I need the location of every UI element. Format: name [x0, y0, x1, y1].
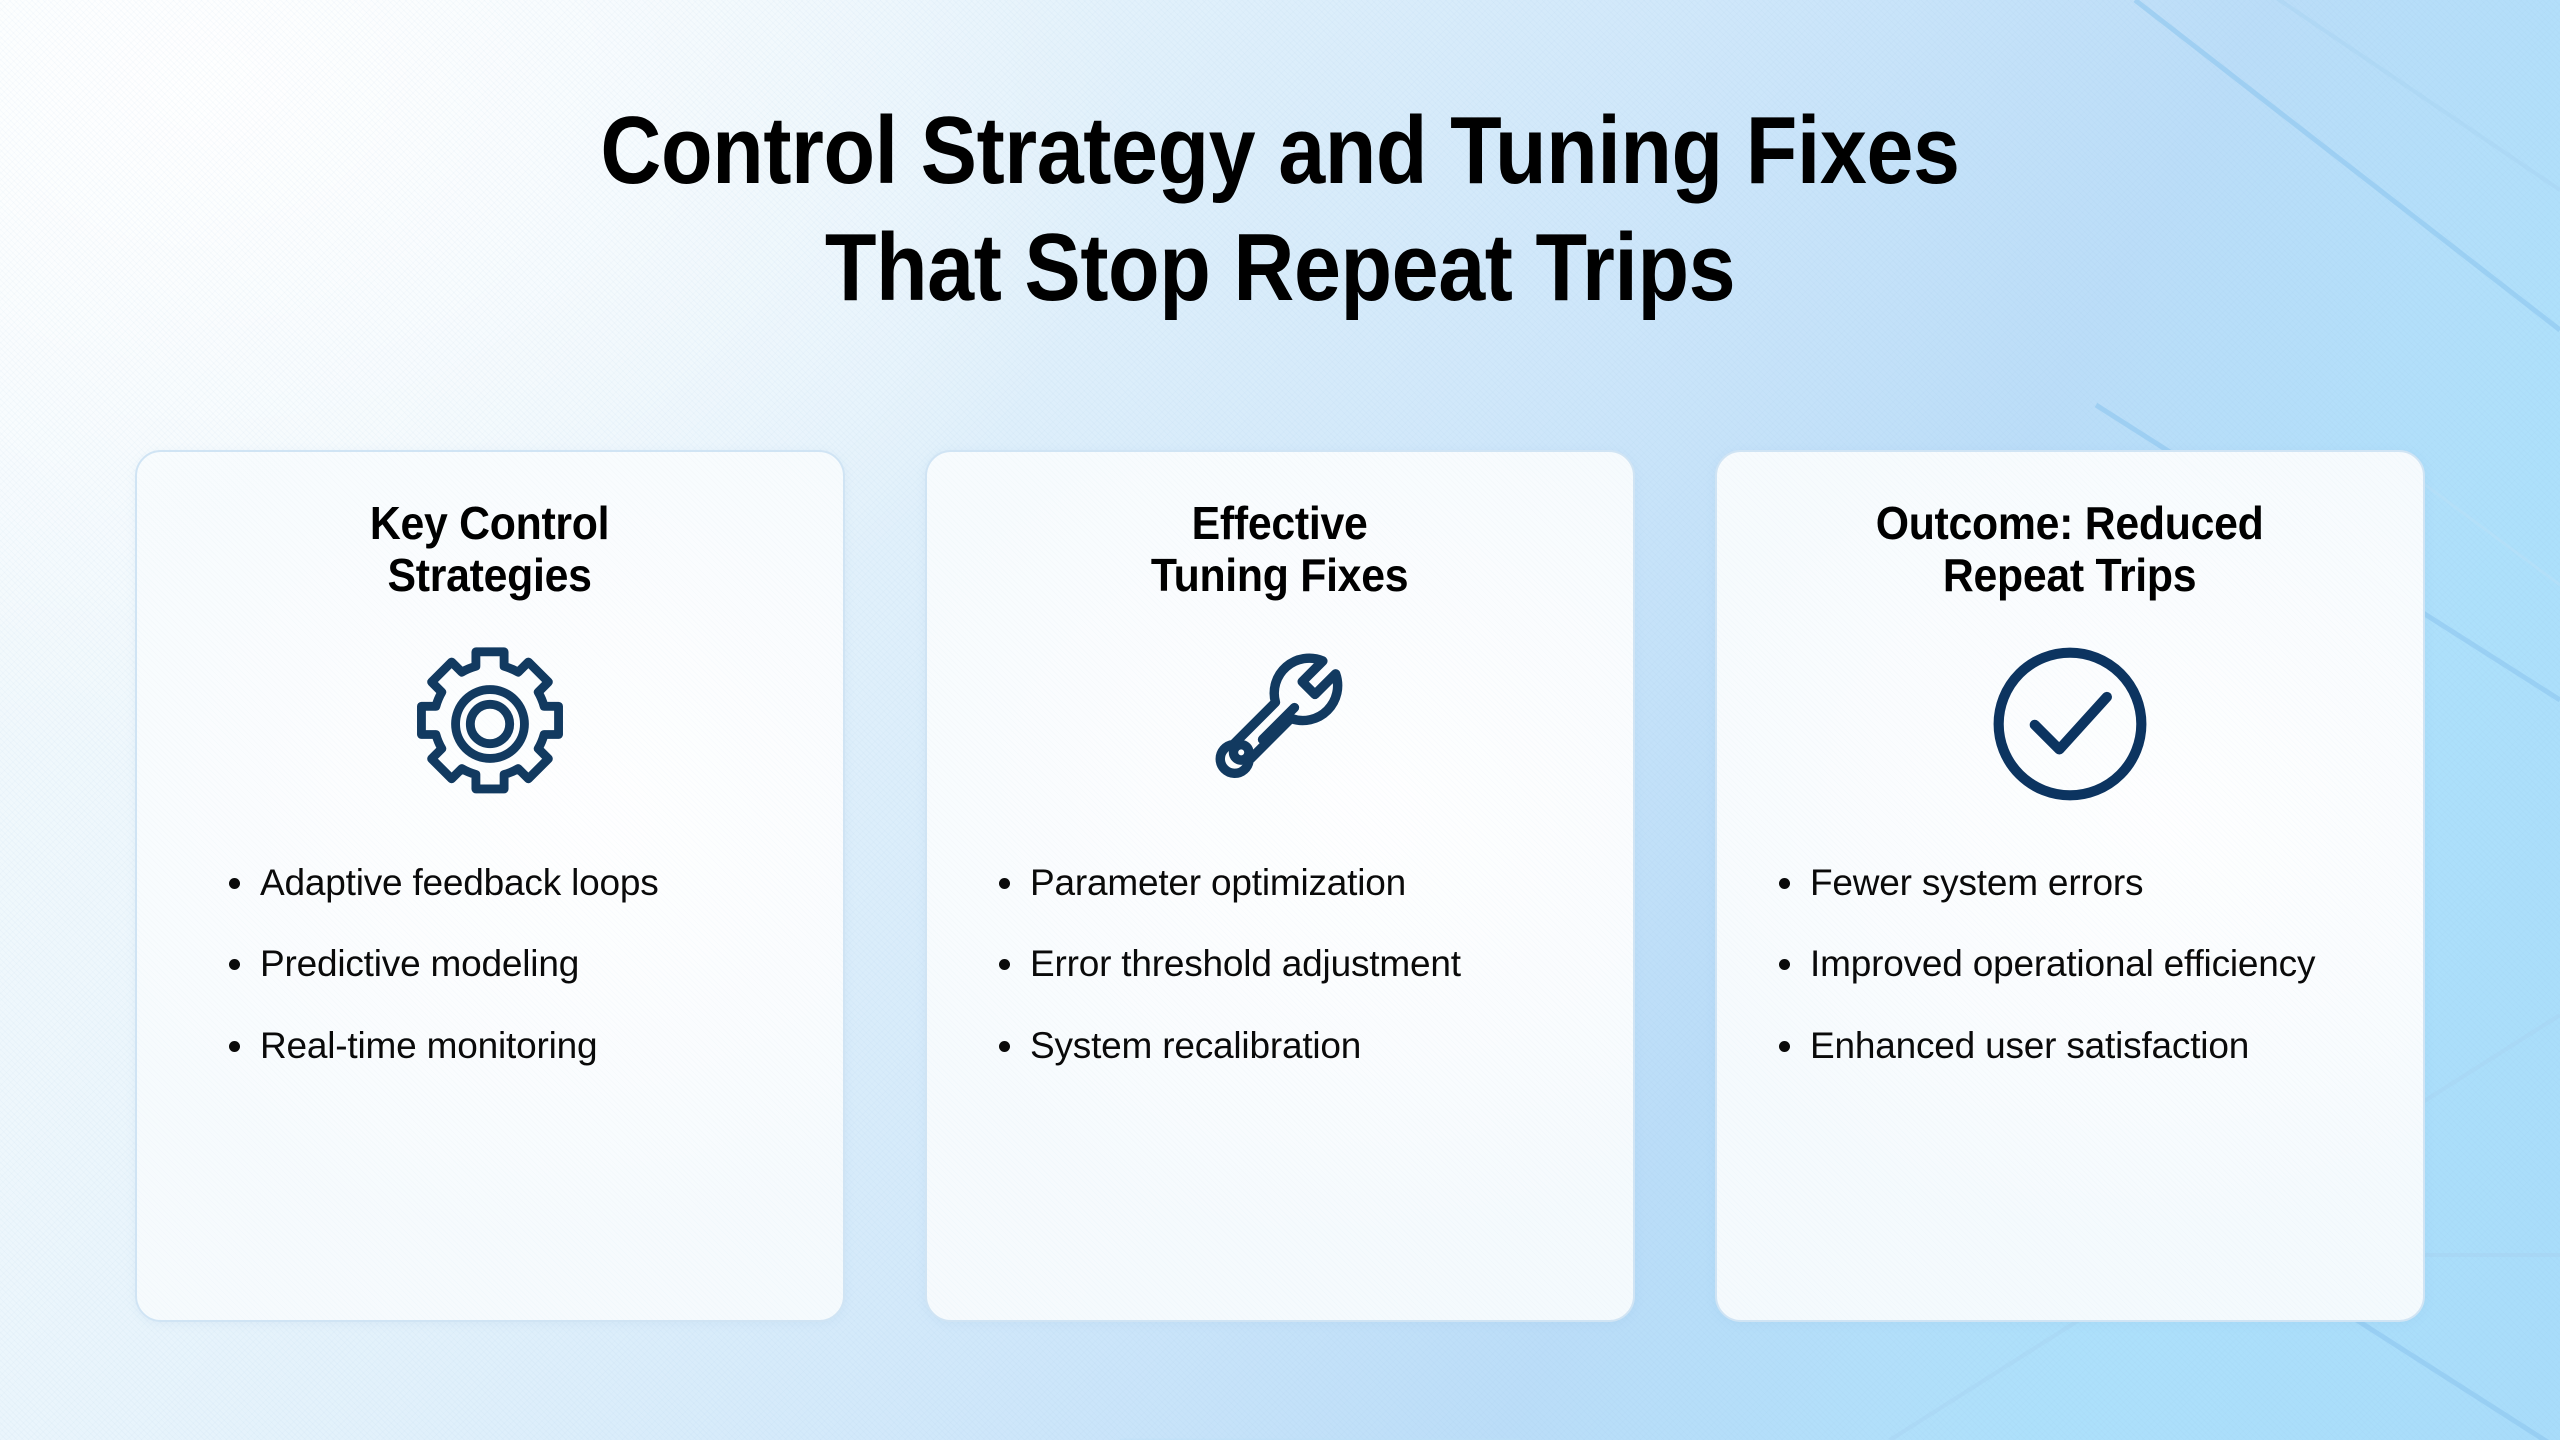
card-heading: Key Control Strategies	[208, 498, 773, 601]
bullet-dot-icon	[1779, 878, 1790, 889]
card-heading-line-2: Strategies	[208, 550, 773, 602]
card-heading-line-1: Key Control	[208, 498, 773, 550]
card-effective-tuning-fixes[interactable]: Effective Tuning Fixes Parameter optimiz…	[925, 450, 1635, 1322]
card-heading-line-1: Outcome: Reduced	[1788, 498, 2353, 550]
bullet-dot-icon	[229, 878, 240, 889]
list-item-label: System recalibration	[1030, 1024, 1361, 1068]
list-item-label: Parameter optimization	[1030, 861, 1406, 905]
bullet-dot-icon	[999, 959, 1010, 970]
list-item: Adaptive feedback loops	[229, 861, 803, 905]
card-heading-line-2: Tuning Fixes	[998, 550, 1563, 602]
list-item-label: Error threshold adjustment	[1030, 942, 1461, 986]
bullet-dot-icon	[229, 959, 240, 970]
list-item: Error threshold adjustment	[999, 942, 1593, 986]
bullet-dot-icon	[999, 1041, 1010, 1052]
page-title-line-1: Control Strategy and Tuning Fixes	[154, 92, 2407, 209]
card-outcome-reduced-repeat-trips[interactable]: Outcome: Reduced Repeat Trips Fewer syst…	[1715, 450, 2425, 1322]
card-group: Key Control Strategies Adaptive feedback…	[135, 450, 2425, 1322]
card-heading: Outcome: Reduced Repeat Trips	[1788, 498, 2353, 601]
check-circle-icon	[1988, 639, 2152, 809]
bullet-dot-icon	[229, 1041, 240, 1052]
list-item: Parameter optimization	[999, 861, 1593, 905]
card-bullet-list: Parameter optimization Error threshold a…	[927, 861, 1633, 1068]
list-item-label: Improved operational efficiency	[1810, 942, 2315, 986]
list-item-label: Real-time monitoring	[260, 1024, 597, 1068]
bullet-dot-icon	[999, 878, 1010, 889]
card-heading: Effective Tuning Fixes	[998, 498, 1563, 601]
card-bullet-list: Adaptive feedback loops Predictive model…	[137, 861, 843, 1068]
list-item-label: Enhanced user satisfaction	[1810, 1024, 2249, 1068]
slide-canvas: Control Strategy and Tuning Fixes That S…	[0, 0, 2560, 1440]
wrench-icon	[1196, 639, 1364, 809]
list-item: Real-time monitoring	[229, 1024, 803, 1068]
card-heading-line-2: Repeat Trips	[1788, 550, 2353, 602]
bullet-dot-icon	[1779, 1041, 1790, 1052]
card-heading-line-1: Effective	[998, 498, 1563, 550]
list-item: Improved operational efficiency	[1779, 942, 2383, 986]
list-item-label: Fewer system errors	[1810, 861, 2143, 905]
bullet-dot-icon	[1779, 959, 1790, 970]
list-item: Predictive modeling	[229, 942, 803, 986]
card-bullet-list: Fewer system errors Improved operational…	[1717, 861, 2423, 1068]
gear-icon	[408, 639, 572, 809]
list-item: Fewer system errors	[1779, 861, 2383, 905]
page-title: Control Strategy and Tuning Fixes That S…	[154, 92, 2407, 326]
page-title-line-2: That Stop Repeat Trips	[154, 209, 2407, 326]
list-item: Enhanced user satisfaction	[1779, 1024, 2383, 1068]
list-item-label: Adaptive feedback loops	[260, 861, 659, 905]
card-key-control-strategies[interactable]: Key Control Strategies Adaptive feedback…	[135, 450, 845, 1322]
list-item: System recalibration	[999, 1024, 1593, 1068]
list-item-label: Predictive modeling	[260, 942, 579, 986]
